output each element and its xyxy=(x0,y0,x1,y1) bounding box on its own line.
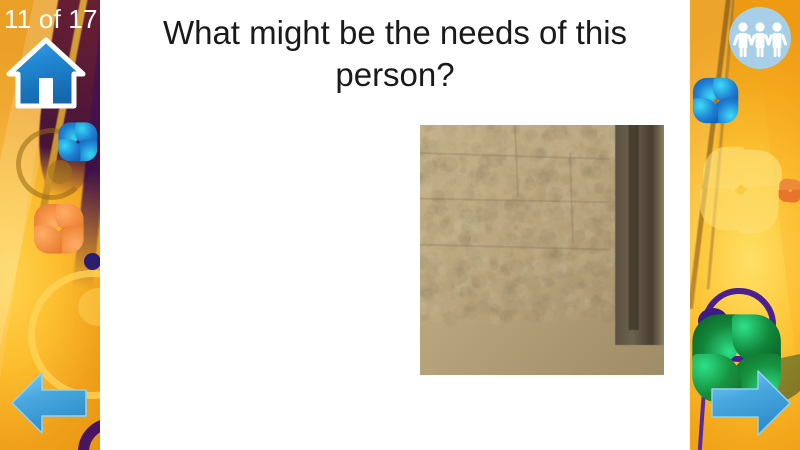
people-community-button[interactable] xyxy=(726,4,794,72)
photo-canvas xyxy=(420,125,664,375)
navy-dot-decoration xyxy=(84,253,100,270)
presentation-slide: What might be the needs of this person? … xyxy=(0,0,800,450)
blue-flower-decoration xyxy=(60,124,96,160)
pale-clover-decoration xyxy=(706,150,776,230)
page-title: What might be the needs of this person? xyxy=(130,12,660,96)
home-button[interactable] xyxy=(6,34,86,112)
next-slide-button[interactable] xyxy=(704,364,794,442)
house-icon xyxy=(6,34,86,112)
right-arrow-icon xyxy=(704,364,794,442)
right-sidebar xyxy=(690,0,800,450)
slide-content-area: What might be the needs of this person? xyxy=(100,0,690,450)
slide-photo xyxy=(420,125,664,375)
swirl-dot-decoration xyxy=(48,160,72,184)
small-orange-flower-decoration xyxy=(780,180,800,202)
three-people-holding-hands-icon xyxy=(726,4,794,72)
blue-flower-decoration xyxy=(695,80,737,122)
previous-slide-button[interactable] xyxy=(8,366,92,440)
left-sidebar xyxy=(0,0,100,450)
orange-flower-decoration xyxy=(36,206,82,252)
slide-counter: 11 of 17 xyxy=(4,4,98,34)
left-arrow-icon xyxy=(8,366,92,440)
